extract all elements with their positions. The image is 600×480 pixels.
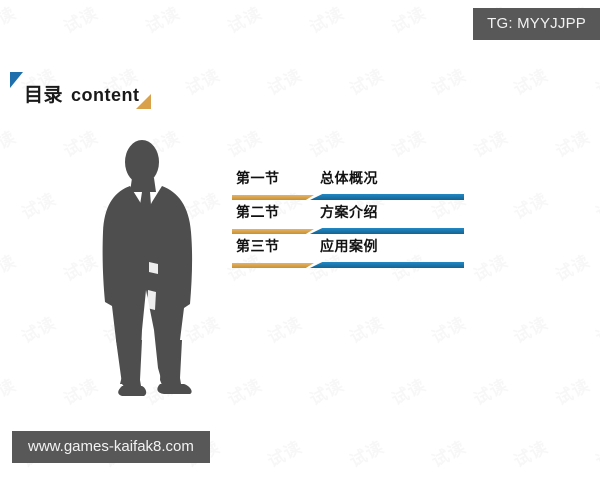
watermark-text: 试读 [550, 371, 594, 410]
watermark-text: 试读 [0, 0, 20, 38]
title-text: 目录content [24, 80, 140, 107]
telegram-badge: TG: MYYJJPP [473, 8, 600, 40]
agenda-row-1[interactable]: 第一节 总体概况 [232, 168, 472, 202]
watermark-text: 试读 [58, 0, 102, 38]
title-cn: 目录 [24, 84, 63, 106]
watermark-text: 试读 [180, 61, 224, 100]
title-en: content [71, 85, 140, 105]
blue-bar [310, 194, 464, 200]
watermark-text: 试读 [344, 309, 388, 348]
watermark-text: 试读 [468, 247, 512, 286]
agenda-underline [232, 228, 464, 235]
watermark-text: 试读 [0, 371, 20, 410]
agenda-section-label: 第一节 [236, 168, 280, 188]
watermark-text: 试读 [304, 371, 348, 410]
watermark-text: 试读 [222, 0, 266, 38]
slide-canvas: 试读试读试读试读试读试读试读试读试读试读试读试读试读试读试读试读试读试读试读试读… [0, 0, 600, 480]
watermark-text: 试读 [140, 0, 184, 38]
website-badge: www.games-kaifak8.com [12, 431, 210, 463]
businessman-silhouette [92, 140, 217, 398]
orange-triangle-icon [136, 94, 151, 109]
blue-bar [310, 262, 464, 268]
watermark-text: 试读 [550, 123, 594, 162]
agenda-title-label: 方案介绍 [320, 202, 378, 222]
watermark-text: 试读 [590, 309, 600, 348]
watermark-text: 试读 [386, 123, 430, 162]
watermark-text: 试读 [590, 61, 600, 100]
watermark-text: 试读 [16, 309, 60, 348]
watermark-text: 试读 [590, 433, 600, 472]
watermark-text: 试读 [0, 123, 20, 162]
agenda-row-3[interactable]: 第三节 应用案例 [232, 236, 472, 270]
agenda-section-label: 第三节 [236, 236, 280, 256]
watermark-text: 试读 [262, 61, 306, 100]
watermark-text: 试读 [344, 61, 388, 100]
watermark-text: 试读 [386, 371, 430, 410]
orange-bar [232, 195, 314, 200]
watermark-text: 试读 [0, 247, 20, 286]
watermark-text: 试读 [508, 61, 552, 100]
orange-bar [232, 263, 314, 268]
watermark-text: 试读 [222, 123, 266, 162]
watermark-text: 试读 [304, 123, 348, 162]
watermark-text: 试读 [426, 433, 470, 472]
watermark-text: 试读 [508, 433, 552, 472]
orange-bar [232, 229, 314, 234]
agenda-section-label: 第二节 [236, 202, 280, 222]
watermark-text: 试读 [468, 123, 512, 162]
agenda-row-2[interactable]: 第二节 方案介绍 [232, 202, 472, 236]
watermark-text: 试读 [222, 371, 266, 410]
watermark-text: 试读 [426, 61, 470, 100]
watermark-text: 试读 [590, 185, 600, 224]
agenda-underline [232, 194, 464, 201]
watermark-text: 试读 [304, 0, 348, 38]
watermark-text: 试读 [262, 433, 306, 472]
agenda-list: 第一节 总体概况 第二节 方案介绍 第三节 应用案例 [232, 168, 472, 270]
agenda-title-label: 总体概况 [320, 168, 378, 188]
agenda-title-label: 应用案例 [320, 236, 378, 256]
watermark-text: 试读 [344, 433, 388, 472]
watermark-text: 试读 [16, 185, 60, 224]
watermark-text: 试读 [550, 247, 594, 286]
blue-triangle-icon [10, 72, 23, 88]
watermark-text: 试读 [468, 371, 512, 410]
watermark-text: 试读 [426, 309, 470, 348]
blue-bar [310, 228, 464, 234]
watermark-text: 试读 [508, 309, 552, 348]
watermark-text: 试读 [508, 185, 552, 224]
watermark-text: 试读 [386, 0, 430, 38]
watermark-text: 试读 [262, 309, 306, 348]
agenda-underline [232, 262, 464, 269]
